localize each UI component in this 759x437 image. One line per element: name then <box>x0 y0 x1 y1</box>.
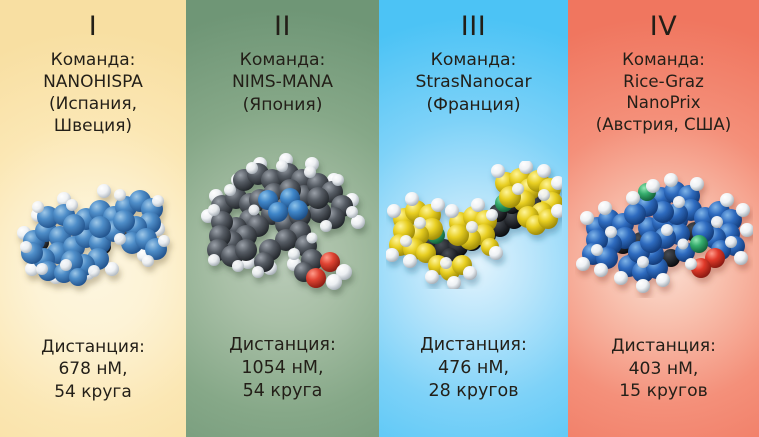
panel-4-team-info: Команда: Rice-Graz NanoPrix (Австрия, СШ… <box>592 49 735 135</box>
nanocar-molecule-blue-green-icon <box>575 172 753 298</box>
panel-team-4: IV Команда: Rice-Graz NanoPrix (Австрия,… <box>568 0 759 437</box>
panel-team-3: III Команда: StrasNanocar (Франция) <box>379 0 568 437</box>
panel-team-1: I Команда: NANOHISPA (Испания, Швеция) <box>0 0 186 437</box>
nanocar-molecule-gray-icon <box>194 150 372 300</box>
panel-2-molecule-area <box>188 116 377 334</box>
panel-1-molecule-area <box>2 137 184 335</box>
panel-1-distance-info: Дистанция: 678 нМ, 54 круга <box>37 336 149 403</box>
nanocar-molecule-blue-icon <box>8 177 178 297</box>
panel-4-molecule-area <box>570 135 757 335</box>
panel-3-numeral: III <box>461 13 486 40</box>
panel-3-distance-info: Дистанция: 476 нМ, 28 кругов <box>416 334 531 403</box>
nanocar-molecule-yellow-icon <box>386 161 562 289</box>
panel-1-team-info: Команда: NANOHISPA (Испания, Швеция) <box>39 49 147 137</box>
panel-2-distance-info: Дистанция: 1054 нМ, 54 круга <box>225 334 340 403</box>
panel-2-numeral: II <box>274 13 291 40</box>
panel-team-2: II Команда: NIMS-MANA (Япония) <box>186 0 379 437</box>
panel-3-molecule-area <box>381 116 566 334</box>
nanocar-race-figure: I Команда: NANOHISPA (Испания, Швеция) <box>0 0 759 437</box>
panel-4-numeral: IV <box>650 13 677 40</box>
panel-4-distance-info: Дистанция: 403 нМ, 15 кругов <box>607 335 720 403</box>
panel-1-numeral: I <box>89 13 97 40</box>
panel-3-team-info: Команда: StrasNanocar (Франция) <box>411 49 535 116</box>
panel-2-team-info: Команда: NIMS-MANA (Япония) <box>228 49 337 116</box>
